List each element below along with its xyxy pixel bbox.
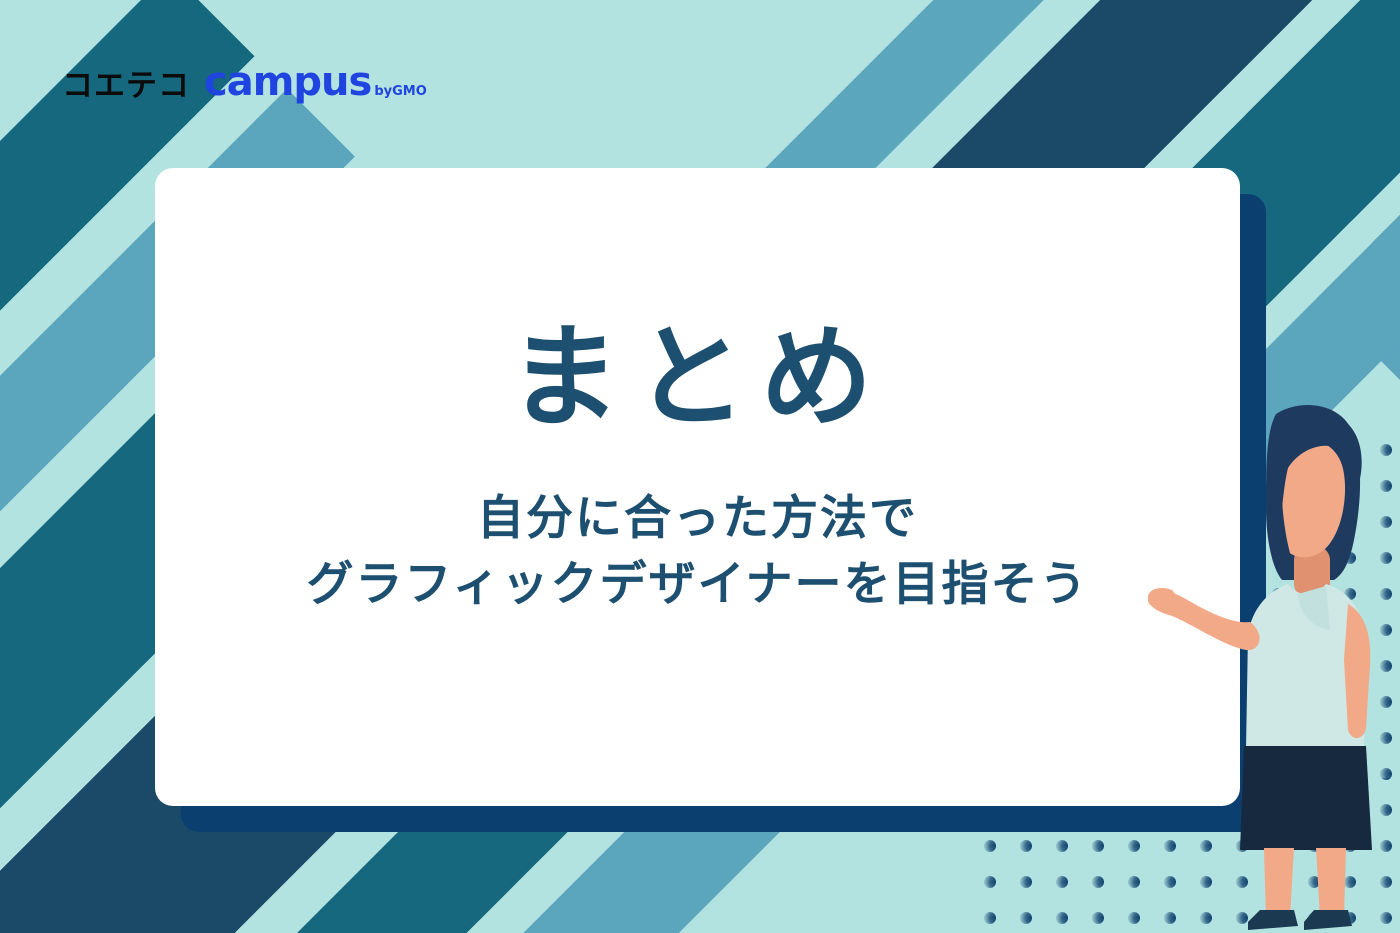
arm-right	[1344, 604, 1370, 738]
logo-campus-text: campus	[204, 62, 371, 102]
shoe-right	[1304, 910, 1352, 930]
logo-japanese-text: コエテコ	[62, 71, 190, 102]
page-title: まとめ	[509, 320, 887, 438]
content-card: まとめ 自分に合った方法で グラフィックデザイナーを目指そう	[155, 168, 1240, 806]
card-subtitle: 自分に合った方法で グラフィックデザイナーを目指そう	[306, 486, 1088, 619]
skirt	[1240, 746, 1372, 850]
woman-presenting-illustration	[1148, 398, 1400, 933]
logo-campus-wrap: campus byGMO	[204, 62, 427, 102]
subtitle-line-1: 自分に合った方法で	[306, 486, 1088, 553]
woman-illustration-svg	[1148, 398, 1400, 933]
leg-left	[1264, 848, 1294, 918]
subtitle-line-2: グラフィックデザイナーを目指そう	[306, 552, 1088, 619]
shoe-left	[1248, 910, 1298, 930]
leg-right	[1316, 848, 1346, 918]
brand-logo: コエテコ campus byGMO	[62, 62, 427, 102]
logo-bygmo-text: byGMO	[374, 85, 426, 102]
hand	[1148, 588, 1180, 612]
